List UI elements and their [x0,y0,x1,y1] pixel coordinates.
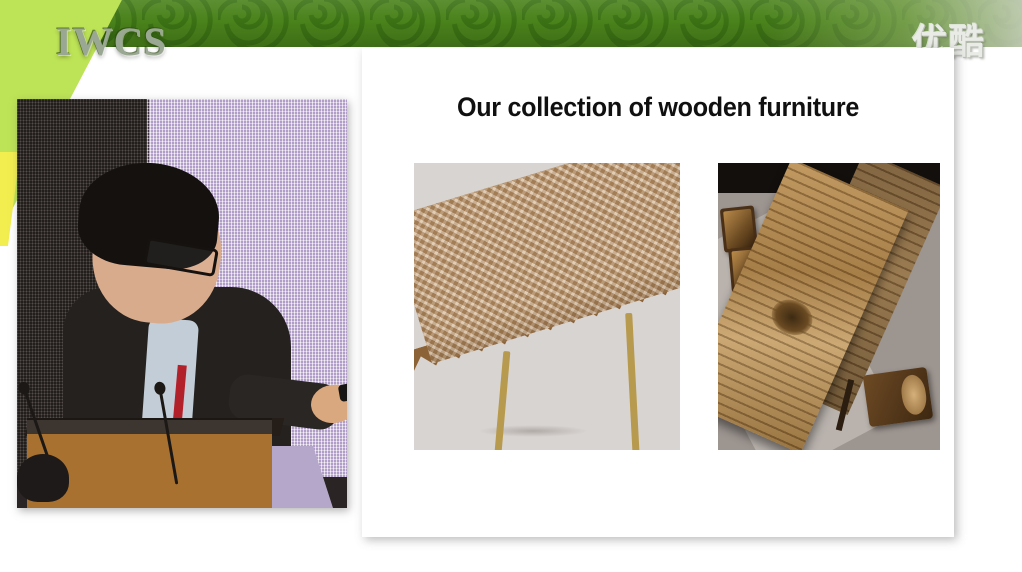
bench-photo-canvas [414,163,680,450]
round-log-stool [863,367,934,427]
screenshot-stage: IWCS 优酷 Our collection of wooden furnitu… [0,0,1022,572]
photo-textured-wooden-bench [414,163,680,450]
presentation-slide: Our collection of wooden furniture [362,48,954,537]
bench-floor-shadow [478,425,588,437]
bench-top-surface [414,163,680,364]
presenter-video-inset [17,99,347,508]
slide-title: Our collection of wooden furniture [383,92,934,123]
iwcs-logo: IWCS [56,22,167,62]
bench-pyramid-texture [414,163,680,364]
photo-live-edge-slab-table [718,163,940,450]
bench-leg-rear [625,313,640,450]
audience-member [17,454,69,502]
log-end-grain [899,373,928,416]
slab-photo-canvas [718,163,940,450]
